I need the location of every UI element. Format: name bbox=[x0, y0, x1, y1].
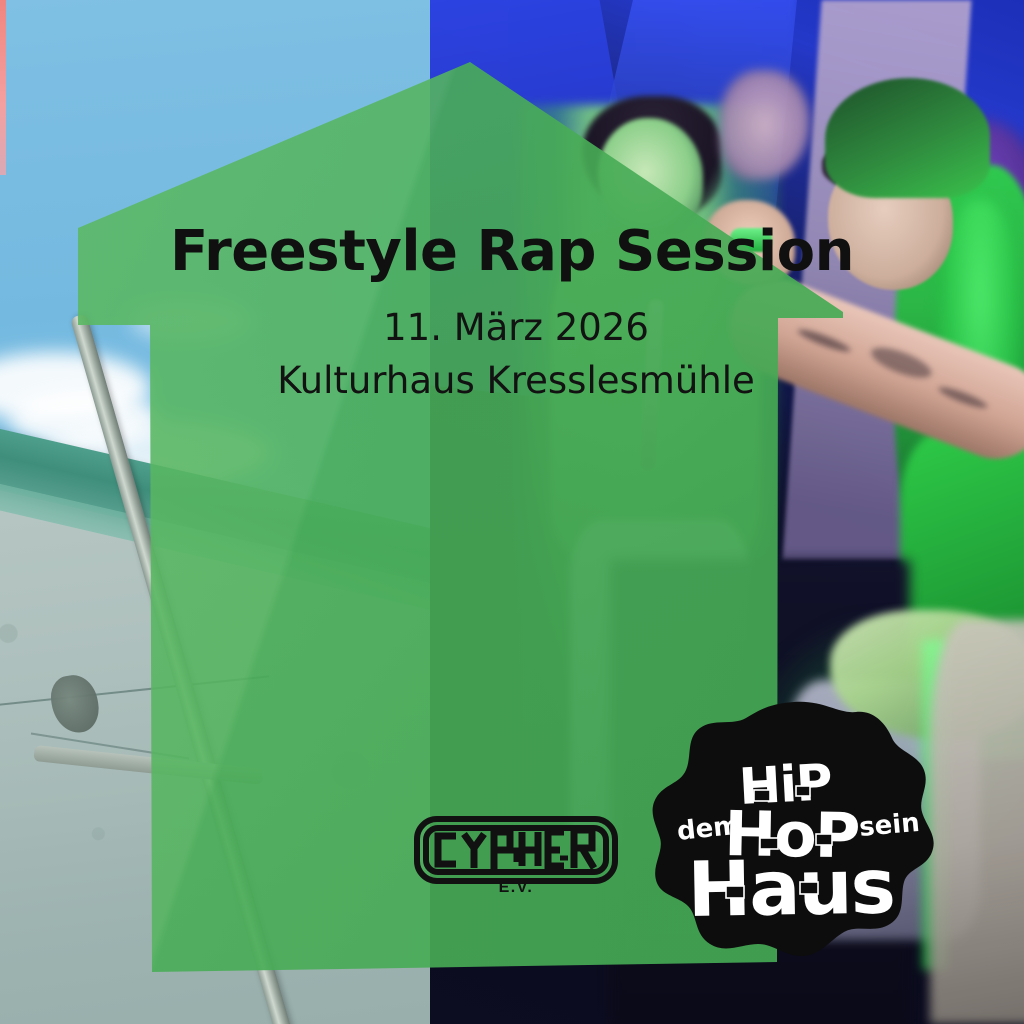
cypher-suffix: E.V. bbox=[499, 879, 534, 896]
event-date: 11. März 2026 bbox=[0, 302, 1024, 355]
poster-canvas: Freestyle Rap Session 11. März 2026 Kult… bbox=[0, 0, 1024, 1024]
poster-text-block: Freestyle Rap Session 11. März 2026 Kult… bbox=[0, 222, 1024, 408]
page-title: Freestyle Rap Session bbox=[0, 222, 1024, 282]
hhh-word-sein: sein bbox=[858, 808, 921, 843]
cypher-logo[interactable]: E.V. bbox=[412, 806, 620, 898]
event-venue: Kulturhaus Kresslesmühle bbox=[0, 355, 1024, 408]
photo-left-sky-building bbox=[0, 0, 430, 1024]
pink-edge-stripe bbox=[0, 0, 6, 175]
foreground-person bbox=[930, 620, 1024, 1024]
rapper-beanie bbox=[825, 78, 990, 198]
event-details: 11. März 2026 Kulturhaus Kresslesmühle bbox=[0, 302, 1024, 407]
hhh-word-haus: Haus bbox=[687, 841, 895, 934]
hiphophaus-logo[interactable]: dem HiP HoP sein Haus bbox=[648, 700, 938, 958]
